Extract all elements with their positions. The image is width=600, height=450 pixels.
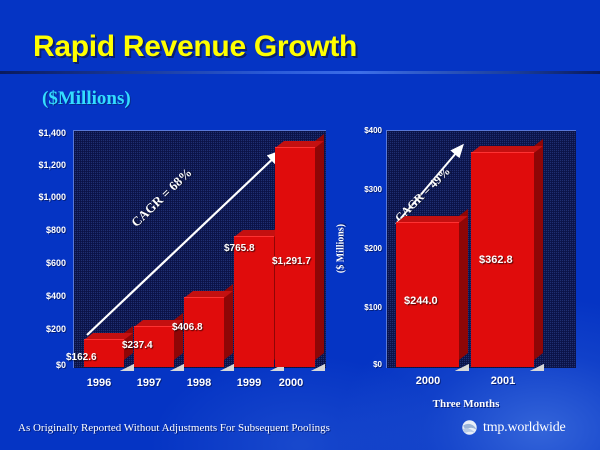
ytick-tm-2: $200 bbox=[340, 244, 382, 253]
xtick-tm-0: 2000 bbox=[399, 375, 457, 387]
ytick-tm-1: $100 bbox=[340, 303, 382, 312]
logo-text: tmp.worldwide bbox=[483, 420, 566, 436]
slide: Rapid Revenue Growth ($Millions) $1,400 … bbox=[0, 0, 600, 450]
xtick-tm-1: 2001 bbox=[474, 375, 532, 387]
bar-side-face bbox=[459, 209, 468, 360]
footnote: As Originally Reported Without Adjustmen… bbox=[18, 422, 330, 434]
bar-side-face bbox=[534, 139, 543, 360]
ytick-tm-0: $0 bbox=[340, 360, 382, 369]
chart-three-months: ($ Millions) $400 $300 $200 $100 $0 CAGR… bbox=[0, 0, 600, 410]
brand-logo: tmp.worldwide bbox=[461, 419, 566, 436]
globe-swirl-icon bbox=[461, 419, 478, 436]
xaxis-title-three-months: Three Months bbox=[406, 398, 526, 410]
bar-value-2001-tm: $362.8 bbox=[479, 254, 513, 266]
bar-value-2000-tm: $244.0 bbox=[404, 295, 438, 307]
ytick-tm-3: $300 bbox=[340, 185, 382, 194]
ytick-tm-4: $400 bbox=[340, 126, 382, 135]
